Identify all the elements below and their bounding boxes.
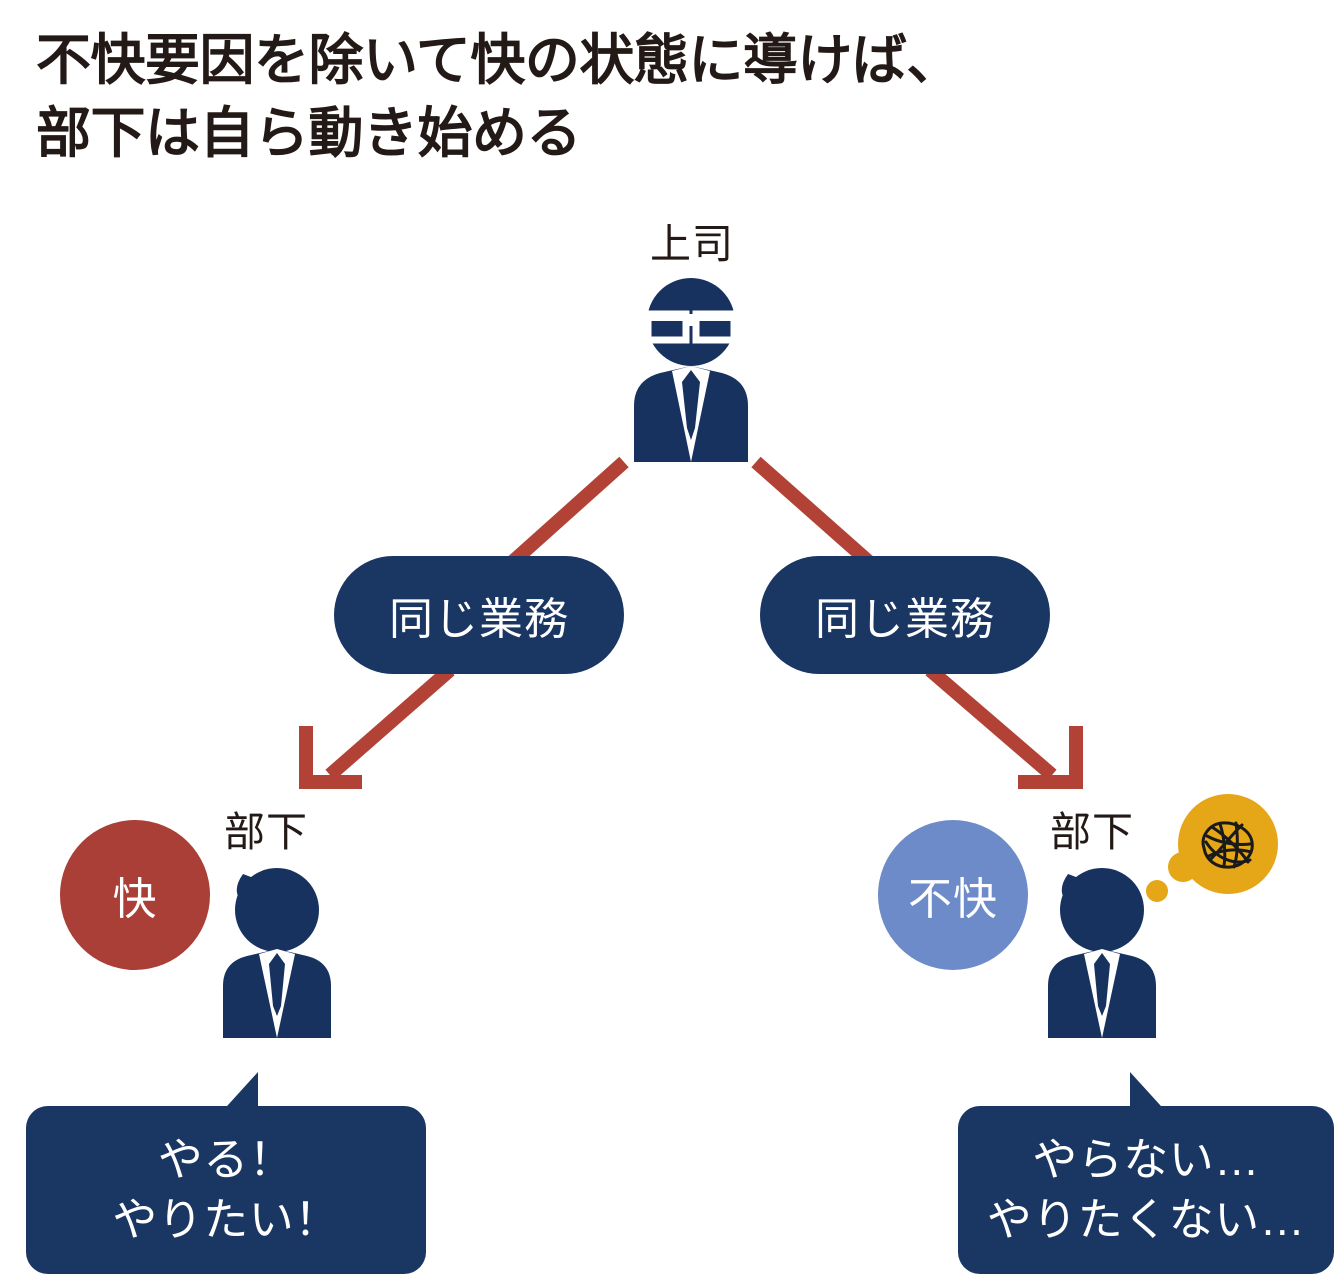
speech-bubble-right-line2: やりたくない… <box>987 1190 1306 1250</box>
state-circle-unpleasant: 不快 <box>878 820 1028 970</box>
thought-bubble-scribble <box>1176 792 1280 896</box>
boss-label: 上司 <box>650 224 734 265</box>
task-pill-left[interactable]: 同じ業務 <box>334 556 624 674</box>
task-pill-right-label: 同じ業務 <box>815 583 995 647</box>
connector-left-task-to-subordinate <box>306 670 450 782</box>
subordinate-right-label: 部下 <box>1050 812 1134 853</box>
state-circle-unpleasant-label: 不快 <box>908 863 998 927</box>
speech-bubble-right: やらない… やりたくない… <box>958 1106 1334 1274</box>
task-pill-right[interactable]: 同じ業務 <box>760 556 1050 674</box>
thought-dot-small <box>1146 880 1168 902</box>
subordinate-left-icon <box>213 858 341 1038</box>
speech-bubble-right-line1: やらない… <box>1032 1130 1260 1190</box>
connector-right-task-to-subordinate <box>930 670 1076 782</box>
task-pill-left-label: 同じ業務 <box>389 583 569 647</box>
state-circle-pleasant-label: 快 <box>113 863 158 927</box>
speech-bubble-left: やる！ やりたい！ <box>26 1106 426 1274</box>
speech-bubble-left-line2: やりたい！ <box>112 1190 340 1250</box>
subordinate-left-label: 部下 <box>224 812 308 853</box>
state-circle-pleasant: 快 <box>60 820 210 970</box>
boss-icon <box>620 278 762 462</box>
infographic-canvas: 不快要因を除いて快の状態に導けば、 部下は自ら動き始める 上司 <box>0 0 1340 1280</box>
speech-bubble-left-line1: やる！ <box>158 1130 295 1190</box>
thought-dot-medium <box>1168 852 1198 882</box>
